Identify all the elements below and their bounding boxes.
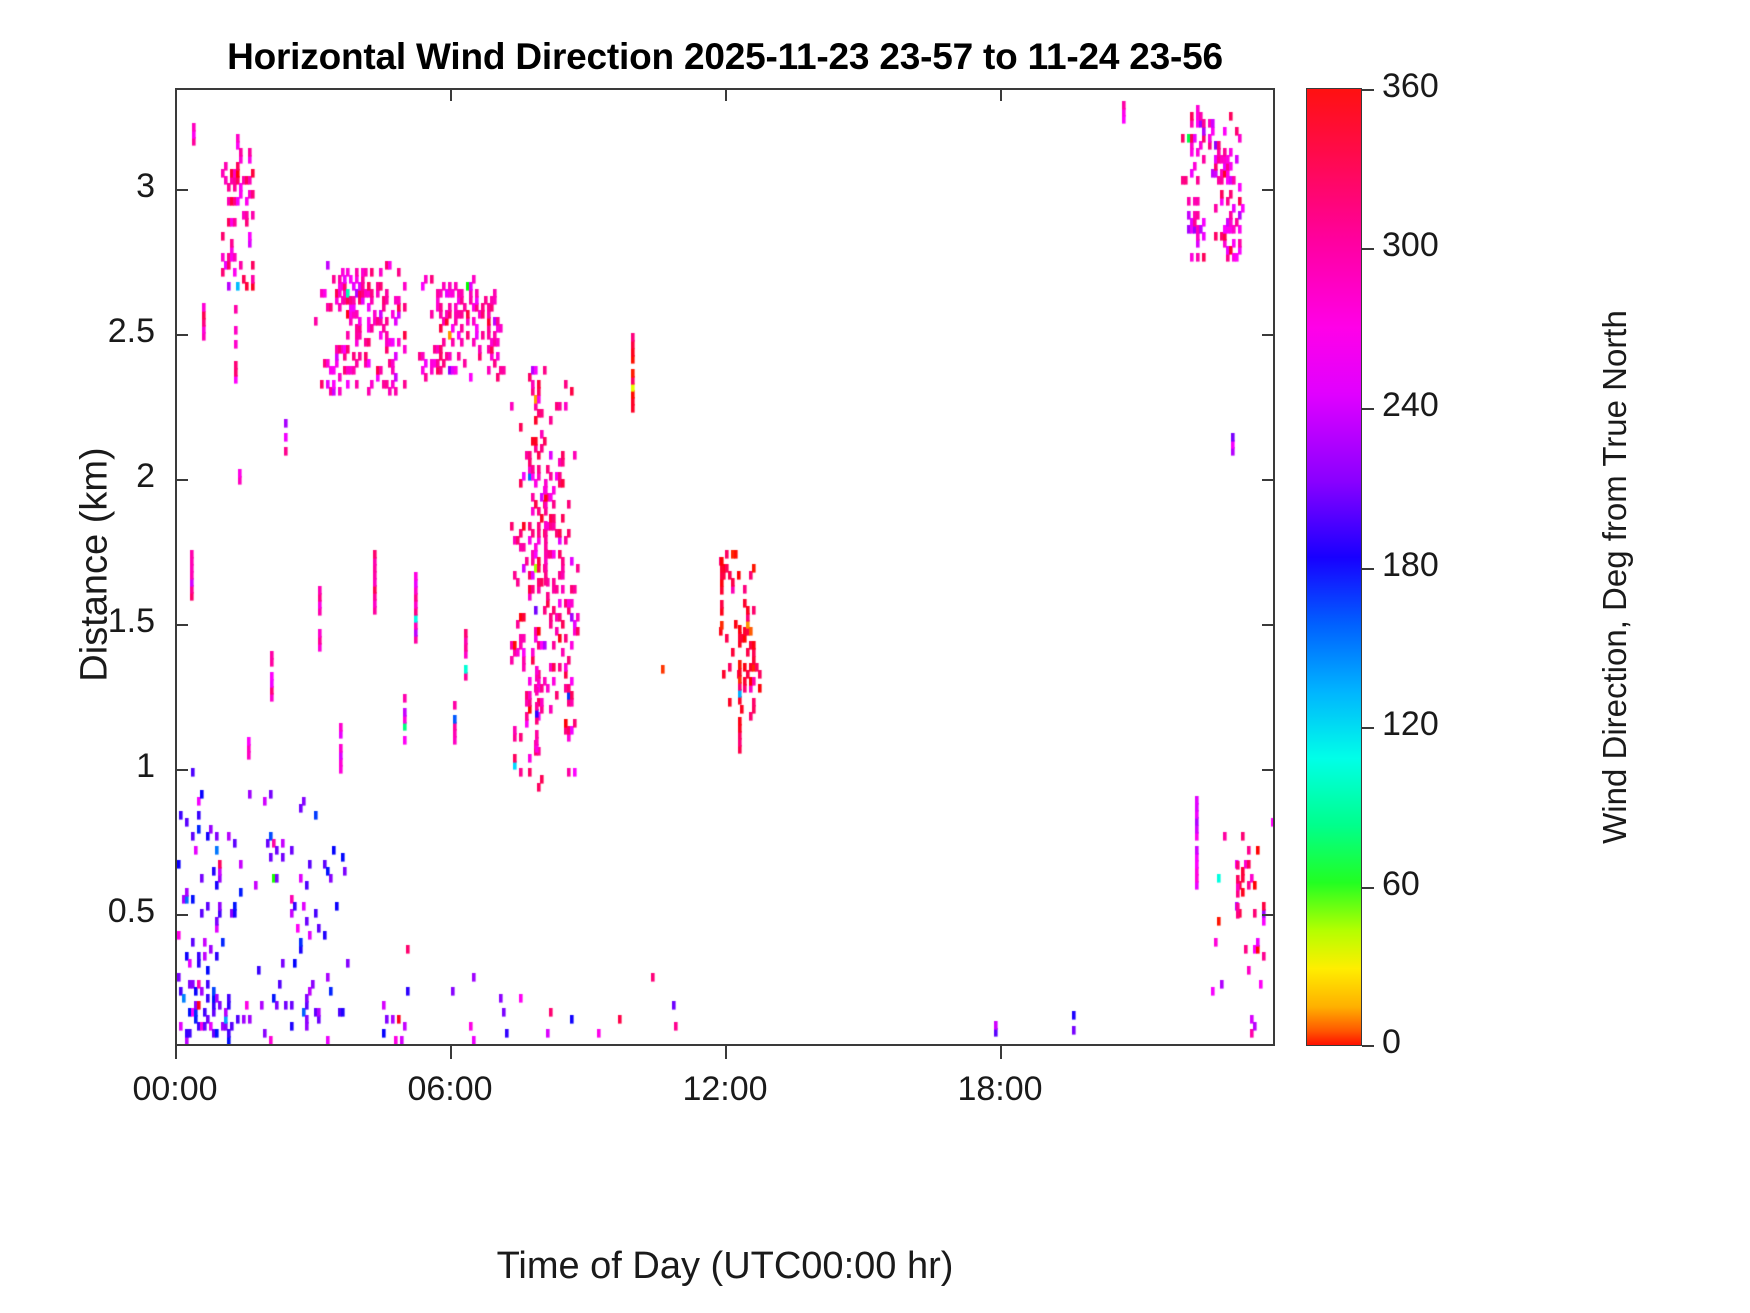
x-axis-label: Time of Day (UTC00:00 hr) <box>175 1245 1275 1288</box>
ytick-mark-4 <box>175 334 188 336</box>
plot-axes <box>175 88 1275 1046</box>
colorbar-label-360: 360 <box>1382 67 1512 106</box>
y-axis-label: Distance (km) <box>74 185 117 945</box>
xtick-label-1: 06:00 <box>340 1070 560 1109</box>
ytick-mark-right-5 <box>1262 189 1275 191</box>
colorbar-tick-120 <box>1362 727 1374 729</box>
colorbar-tick-180 <box>1362 568 1374 570</box>
xtick-mark-3 <box>1000 1046 1002 1059</box>
ytick-mark-3 <box>175 479 188 481</box>
xtick-mark-1 <box>450 1046 452 1059</box>
xtick-label-2: 12:00 <box>615 1070 835 1109</box>
xtick-mark-top-0 <box>175 88 177 101</box>
colorbar-label-180: 180 <box>1382 546 1512 585</box>
ytick-mark-1 <box>175 769 188 771</box>
heatmap-canvas <box>177 90 1273 1044</box>
colorbar-label-240: 240 <box>1382 386 1512 425</box>
colorbar-tick-360 <box>1362 89 1374 91</box>
colorbar-axis-label: Wind Direction, Deg from True North <box>1596 177 1634 977</box>
colorbar-tick-240 <box>1362 408 1374 410</box>
ytick-mark-right-2 <box>1262 624 1275 626</box>
xtick-mark-2 <box>725 1046 727 1059</box>
colorbar-tick-300 <box>1362 248 1374 250</box>
colorbar-label-60: 60 <box>1382 865 1512 904</box>
colorbar-tick-0 <box>1362 1045 1374 1047</box>
ytick-mark-0 <box>175 914 188 916</box>
colorbar-label-120: 120 <box>1382 705 1512 744</box>
xtick-mark-top-1 <box>450 88 452 101</box>
figure-container: Horizontal Wind Direction 2025-11-23 23-… <box>0 0 1750 1313</box>
ytick-mark-2 <box>175 624 188 626</box>
xtick-label-0: 00:00 <box>65 1070 285 1109</box>
ytick-mark-right-3 <box>1262 479 1275 481</box>
ytick-mark-right-0 <box>1262 914 1275 916</box>
ytick-mark-right-4 <box>1262 334 1275 336</box>
colorbar-tick-60 <box>1362 887 1374 889</box>
colorbar-label-0: 0 <box>1382 1023 1512 1062</box>
page-title: Horizontal Wind Direction 2025-11-23 23-… <box>175 36 1275 78</box>
colorbar-label-300: 300 <box>1382 226 1512 265</box>
ytick-mark-right-1 <box>1262 769 1275 771</box>
xtick-label-3: 18:00 <box>890 1070 1110 1109</box>
colorbar-gradient <box>1306 88 1362 1046</box>
xtick-mark-top-3 <box>1000 88 1002 101</box>
ytick-mark-5 <box>175 189 188 191</box>
xtick-mark-0 <box>175 1046 177 1059</box>
xtick-mark-top-2 <box>725 88 727 101</box>
